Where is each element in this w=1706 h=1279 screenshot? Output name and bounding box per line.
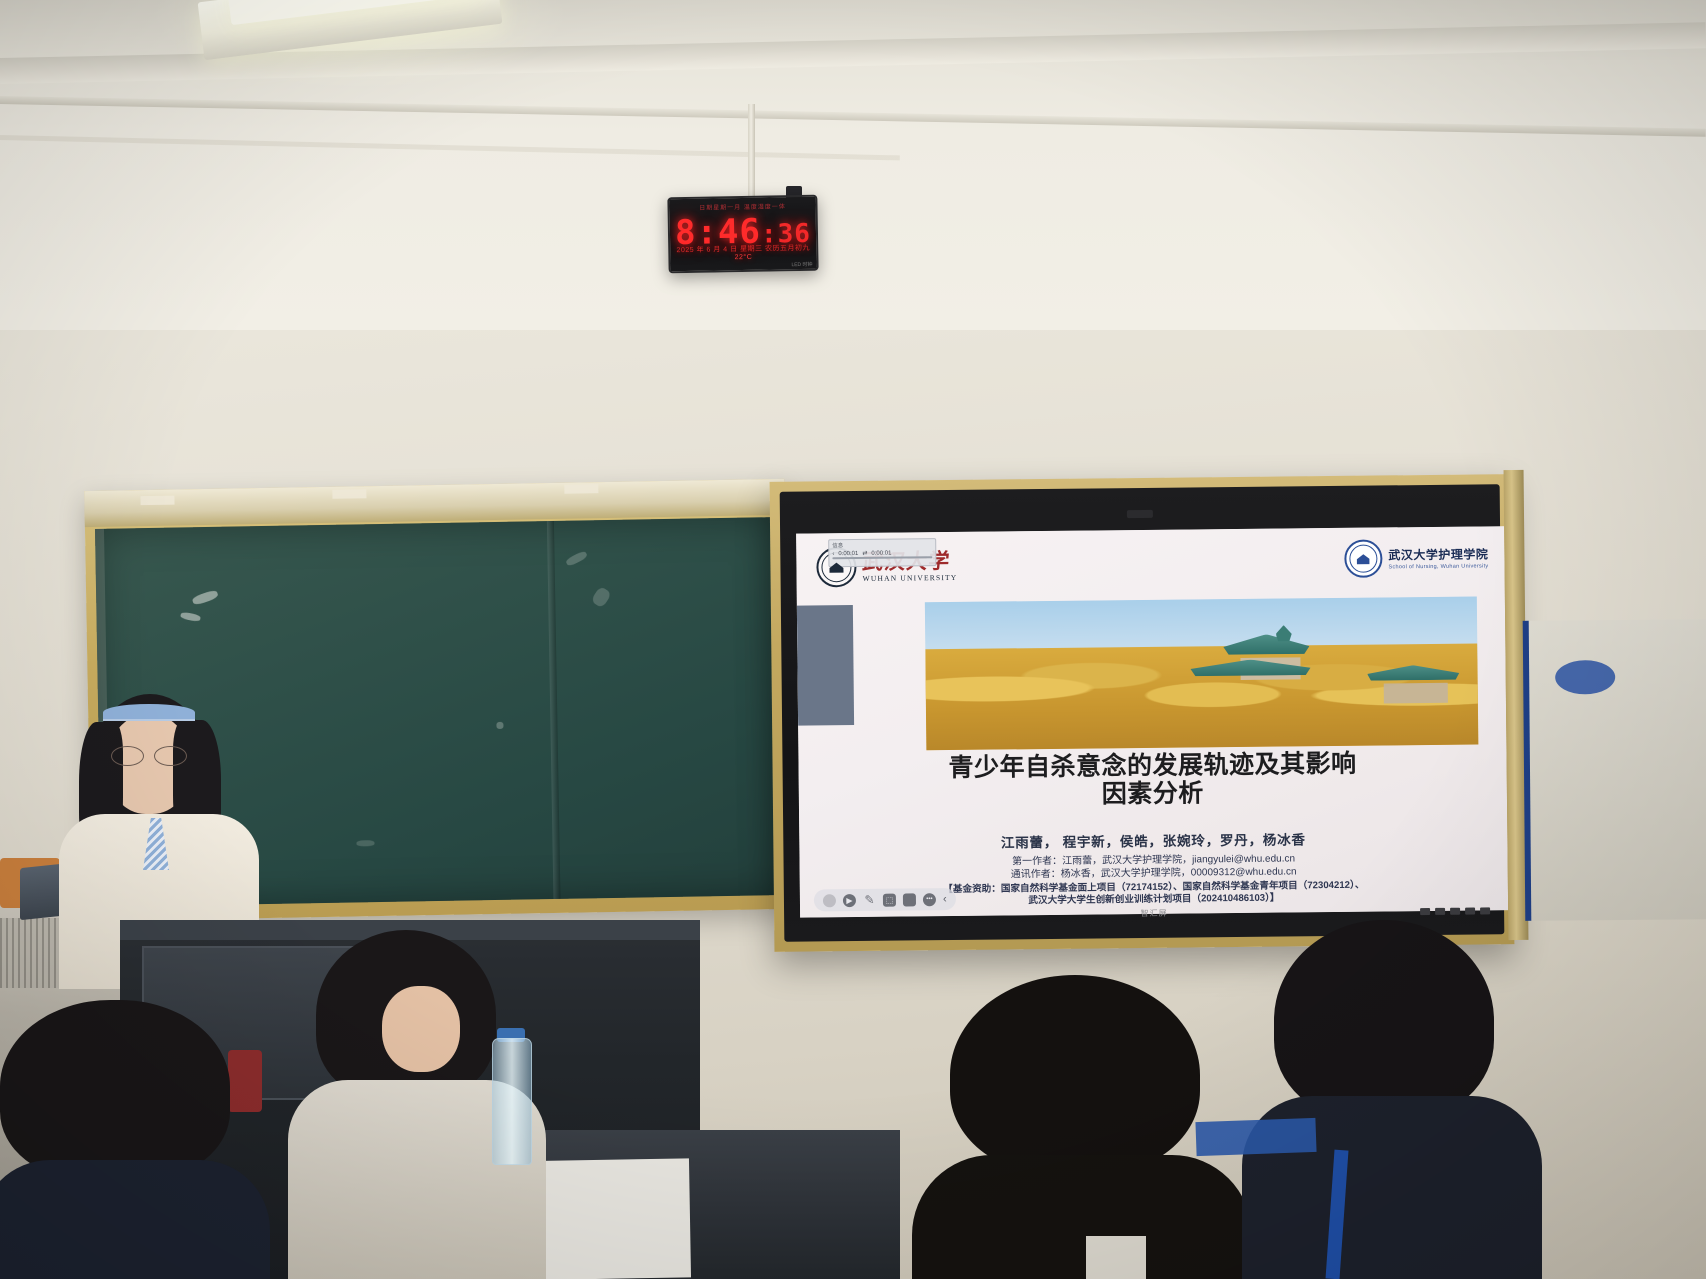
board-tape: [564, 484, 598, 494]
glasses-lens-right: [154, 746, 187, 766]
smart-display-screen[interactable]: 武汉大学 WUHAN UNIVERSITY 武汉大学护理学院 School of…: [796, 526, 1508, 917]
desk-blue-card: [1195, 1118, 1316, 1156]
slide-side-block: [797, 605, 854, 726]
school-of-nursing-name-en: School of Nursing, Wuhan University: [1388, 563, 1488, 570]
audience-hair: [950, 975, 1200, 1175]
chalk-mark: [191, 589, 219, 606]
display-brand-label: 智汇屏: [1141, 908, 1168, 919]
board-tape: [140, 496, 174, 506]
back-chevron-icon[interactable]: ‹: [943, 894, 947, 905]
more-options-icon[interactable]: •••: [923, 893, 936, 906]
chalkboard-seam: [547, 521, 561, 899]
pen-icon[interactable]: ✎: [863, 893, 876, 906]
media-progress-bar[interactable]: [832, 556, 932, 559]
display-port: [1450, 908, 1460, 915]
nursing-emblem-icon: [1357, 553, 1370, 564]
led-wall-clock: 日期星期一月 温度湿度一体 8:46:36 2025 年 6 月 4 日 星期三…: [667, 195, 818, 274]
media-scrub-row[interactable]: [829, 556, 935, 559]
school-of-nursing-seal-icon: [1344, 539, 1382, 577]
audience-shirt: [912, 1155, 1252, 1279]
chalk-mark: [590, 586, 612, 609]
record-idle-icon[interactable]: [823, 894, 836, 907]
audience-hair: [0, 1000, 230, 1180]
play-icon[interactable]: ▶: [843, 894, 856, 907]
clock-date-line: 2025 年 6 月 4 日 星期三 农历五月初九 22°C: [670, 243, 816, 263]
audience-member: [930, 975, 1230, 1279]
school-of-nursing-logo: 武汉大学护理学院 School of Nursing, Wuhan Univer…: [1344, 538, 1488, 578]
clock-temperature: 22°C: [735, 254, 753, 261]
display-camera-icon: [1127, 510, 1153, 518]
screenshot-icon[interactable]: ⬚: [883, 893, 896, 906]
campus-photo: [925, 596, 1479, 750]
media-elapsed-time: 0:00:01: [838, 550, 858, 556]
chalk-dot: [496, 722, 503, 729]
name-tag: [1086, 1236, 1146, 1279]
display-port: [1420, 908, 1430, 915]
audience-member: [1258, 920, 1518, 1279]
display-port-row: [1420, 907, 1490, 915]
clock-date-text: 2025 年 6 月 4 日 星期三 农历五月初九: [676, 245, 810, 254]
clock-brand-label: LED 时钟: [791, 261, 812, 268]
video-camera-icon[interactable]: [903, 893, 916, 906]
slide-author-list: 江雨蕾， 程宇新，侯皓，张婉玲，罗丹，杨冰香: [839, 827, 1467, 854]
display-port: [1435, 908, 1445, 915]
display-annotation-toolbar[interactable]: ▶ ✎ ⬚ ••• ‹: [814, 888, 956, 911]
water-bottle: [492, 1038, 532, 1165]
notice-panel-emblem: [1555, 660, 1615, 695]
presenter-glasses: [111, 746, 187, 764]
wuhan-university-name-en: WUHAN UNIVERSITY: [863, 573, 958, 583]
presentation-slide[interactable]: 武汉大学 WUHAN UNIVERSITY 武汉大学护理学院 School of…: [796, 526, 1508, 917]
audience-shirt: [0, 1160, 270, 1279]
audience-face: [382, 986, 460, 1072]
wall-notice-panel: [1523, 619, 1706, 921]
chalk-mark: [356, 840, 374, 846]
smart-display-bezel: 武汉大学 WUHAN UNIVERSITY 武汉大学护理学院 School of…: [780, 484, 1505, 942]
media-prev-icon[interactable]: ‹: [832, 551, 834, 557]
presenter-headband: [103, 704, 195, 721]
chalk-mark: [180, 611, 201, 622]
photo-building-right: [1384, 683, 1448, 704]
slide-title-line-2: 因素分析: [839, 777, 1467, 812]
slide-title: 青少年自杀意念的发展轨迹及其影响 因素分析: [838, 749, 1467, 812]
board-tape: [332, 489, 366, 499]
media-repeat-icon[interactable]: ⇄: [862, 550, 867, 557]
glasses-lens-left: [111, 746, 144, 766]
clock-pipe-drop: [748, 104, 755, 200]
classroom-presentation-photo: 日期星期一月 温度湿度一体 8:46:36 2025 年 6 月 4 日 星期三…: [0, 0, 1706, 1279]
media-playback-overlay[interactable]: 信息 ‹ 0:00:01 ⇄ 0:00:01: [828, 538, 936, 567]
smart-display-frame: 武汉大学 WUHAN UNIVERSITY 武汉大学护理学院 School of…: [770, 474, 1515, 952]
chalk-mark: [565, 550, 588, 567]
audience-member: [0, 1000, 240, 1279]
media-total-time: 0:00:01: [871, 550, 891, 556]
school-of-nursing-name-cn: 武汉大学护理学院: [1388, 545, 1488, 563]
display-port: [1480, 907, 1490, 914]
display-port: [1465, 908, 1475, 915]
audience-hair: [1274, 920, 1494, 1120]
